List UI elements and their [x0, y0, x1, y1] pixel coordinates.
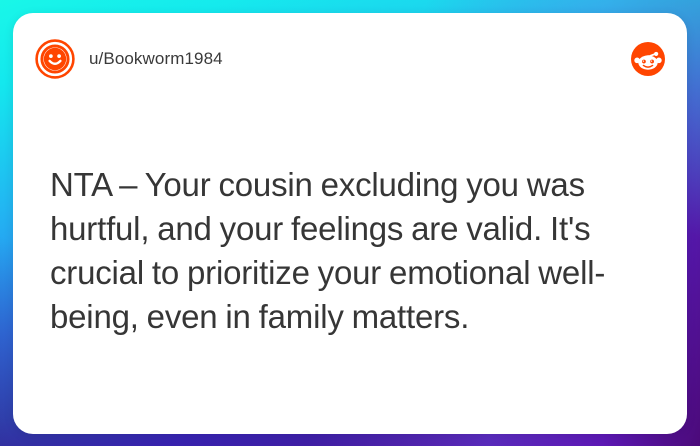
reddit-snoo-logo-icon[interactable] — [631, 42, 665, 76]
comment-text: NTA – Your cousin excluding you was hurt… — [50, 163, 650, 339]
avatar-smiley-icon[interactable] — [35, 39, 75, 79]
comment-card-header: u/Bookworm1984 — [13, 13, 687, 105]
username-label: u/Bookworm1984 — [89, 49, 223, 69]
comment-card: u/Bookworm1984 — [13, 13, 687, 434]
reddit-comment-graphic: u/Bookworm1984 — [0, 0, 700, 446]
